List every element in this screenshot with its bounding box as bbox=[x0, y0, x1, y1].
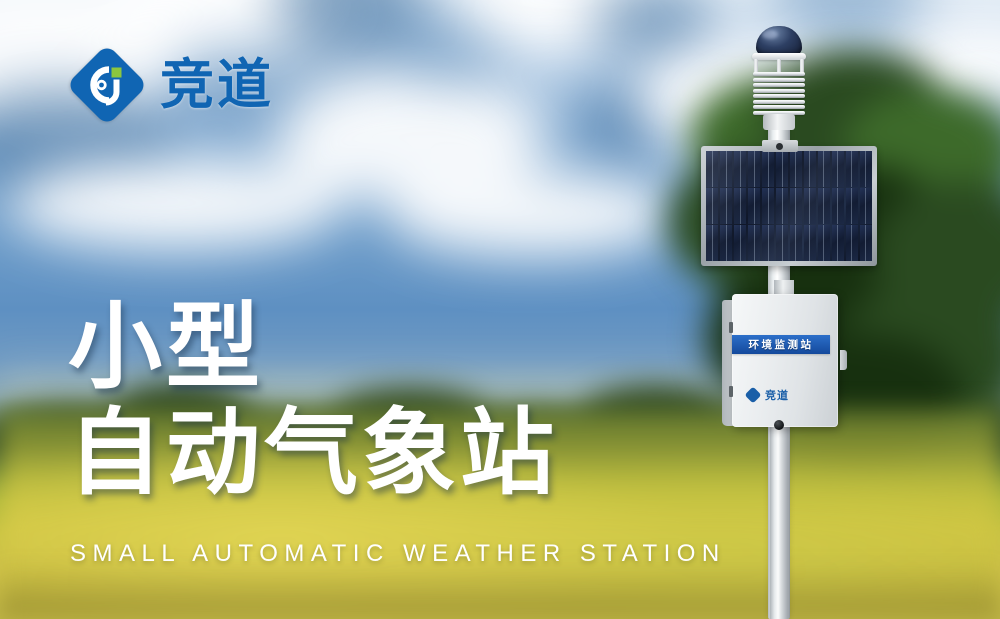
brand-logo[interactable]: 竞道 bbox=[68, 46, 274, 124]
headline-line-2: 自动气象站 bbox=[68, 406, 558, 502]
product-hero-banner: 环境监测站 竞道 bbox=[0, 0, 1000, 619]
solar-panel-icon bbox=[701, 146, 877, 266]
enclosure-front-panel bbox=[732, 294, 838, 427]
weather-station-product: 环境监测站 竞道 bbox=[700, 22, 900, 619]
solar-panel-frame bbox=[701, 146, 877, 266]
sensor-base-collar bbox=[763, 114, 795, 130]
jingdao-diamond-logo-icon-small bbox=[746, 388, 761, 403]
enclosure-brand-logo: 竞道 bbox=[746, 387, 789, 403]
sensor-dome bbox=[756, 26, 802, 56]
enclosure-clip-top bbox=[729, 322, 733, 333]
subtitle-english: SMALL AUTOMATIC WEATHER STATION bbox=[70, 540, 726, 568]
enclosure-brand-text: 竞道 bbox=[765, 387, 789, 403]
headline-line-1: 小型 bbox=[68, 300, 558, 396]
ultrasonic-weather-sensor-icon bbox=[747, 22, 811, 128]
radiation-shield-louvers bbox=[753, 72, 805, 117]
mast-pole-lower bbox=[770, 422, 788, 619]
solar-panel-bracket bbox=[762, 140, 798, 152]
solar-panel-cells bbox=[706, 151, 872, 261]
enclosure-hinge-tab bbox=[840, 350, 847, 370]
jingdao-diamond-logo-icon bbox=[68, 46, 146, 124]
enclosure-sensor-port bbox=[774, 420, 784, 430]
brand-name: 竞道 bbox=[160, 58, 274, 112]
enclosure-clip-bottom bbox=[729, 386, 733, 397]
enclosure-box: 环境监测站 竞道 bbox=[722, 294, 842, 429]
enclosure-banner-label: 环境监测站 bbox=[732, 335, 830, 354]
headline-block: 小型 自动气象站 bbox=[68, 300, 558, 502]
